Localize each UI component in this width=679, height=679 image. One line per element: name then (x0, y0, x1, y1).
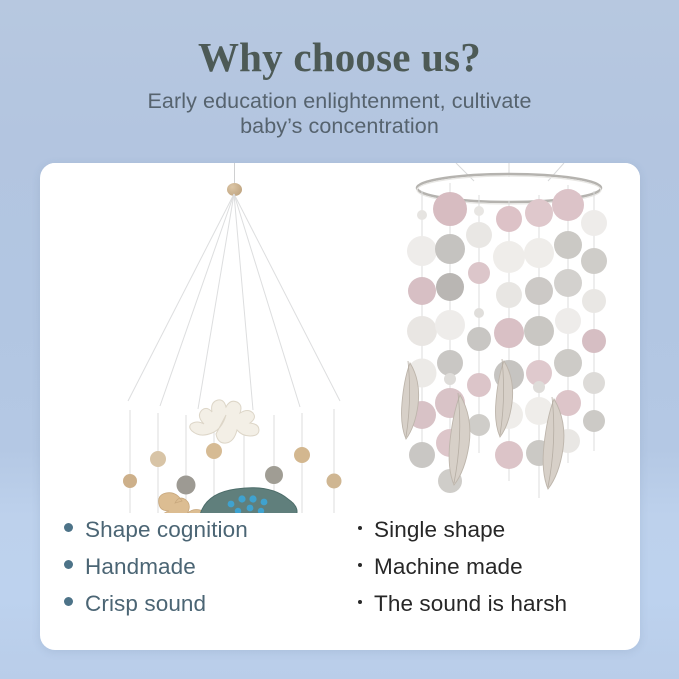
list-item: Machine made (358, 550, 638, 583)
feature-label: Machine made (374, 550, 523, 583)
spoke-strings (128, 194, 340, 410)
right-feature-list: Single shape Machine made The sound is h… (358, 513, 638, 624)
right-product-pane (378, 163, 640, 513)
subtitle-line-2: baby’s concentration (240, 114, 439, 138)
bullet-dot-icon (358, 526, 362, 530)
bullet-dot-icon (358, 600, 362, 604)
bullet-dot-icon (64, 560, 73, 569)
ocean-mobile-illustration (48, 163, 378, 513)
infographic-page: Why choose us? Early education enlighten… (0, 0, 679, 679)
list-item: The sound is harsh (358, 587, 638, 620)
feature-lists: Shape cognition Handmade Crisp sound Sin… (40, 513, 640, 650)
product-photo-row (40, 163, 640, 513)
bullet-dot-icon (64, 597, 73, 606)
page-subtitle: Early education enlightenment, cultivate… (0, 89, 679, 139)
list-item: Handmade (64, 550, 364, 583)
ocean-mobile-photo (48, 163, 378, 513)
feature-label: The sound is harsh (374, 587, 567, 620)
subtitle-line-1: Early education enlightenment, cultivate (147, 89, 531, 113)
list-item: Single shape (358, 513, 638, 546)
pompom-group (407, 189, 607, 493)
feature-label: Handmade (85, 550, 196, 583)
comparison-card: Shape cognition Handmade Crisp sound Sin… (40, 163, 640, 650)
tan-coral-shape (159, 493, 207, 513)
pompom-mobile-illustration (378, 163, 640, 513)
page-title: Why choose us? (0, 34, 679, 80)
white-coral-shape (190, 400, 259, 443)
list-item: Crisp sound (64, 587, 364, 620)
feature-label: Shape cognition (85, 513, 248, 546)
left-product-pane (48, 163, 378, 513)
pompom-mobile-photo (378, 163, 640, 513)
feature-label: Single shape (374, 513, 505, 546)
feature-label: Crisp sound (85, 587, 206, 620)
top-strings (456, 163, 564, 181)
left-feature-list: Shape cognition Handmade Crisp sound (64, 513, 364, 624)
felt-ball-group (123, 443, 342, 495)
bullet-dot-icon (358, 563, 362, 567)
header: Why choose us? Early education enlighten… (0, 0, 679, 139)
bullet-dot-icon (64, 523, 73, 532)
list-item: Shape cognition (64, 513, 364, 546)
